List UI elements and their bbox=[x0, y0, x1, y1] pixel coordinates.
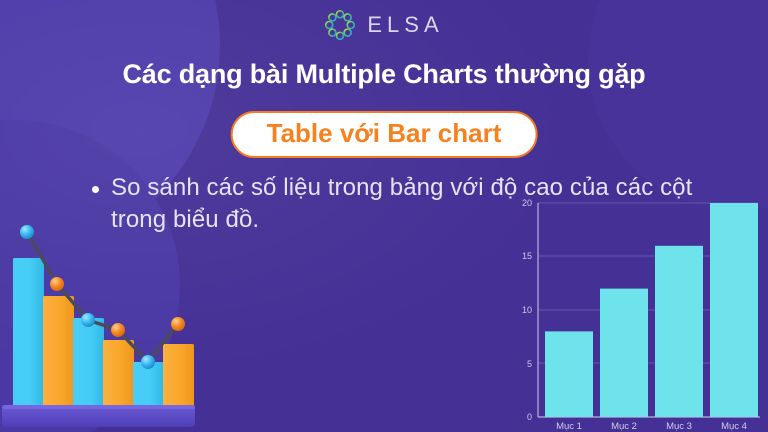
x-tick-0: Mục 1 bbox=[556, 421, 582, 432]
topic-pill: Table với Bar chart bbox=[231, 111, 538, 158]
x-tick-2: Mục 3 bbox=[666, 421, 692, 432]
elsa-wordmark: ELSA bbox=[365, 14, 443, 36]
page-title: Các dạng bài Multiple Charts thường gặp bbox=[0, 60, 768, 90]
y-tick-0: 0 bbox=[527, 412, 532, 422]
slide-root: ELSA Các dạng bài Multiple Charts thường… bbox=[0, 0, 768, 432]
illustration-bars bbox=[13, 258, 194, 406]
chart-bar-0 bbox=[545, 331, 593, 417]
chart-y-tick-labels: 20 15 10 5 0 bbox=[522, 198, 532, 422]
x-tick-3: Mục 4 bbox=[721, 421, 747, 432]
elsa-flower-logo-icon bbox=[324, 9, 356, 41]
chart-bar-2 bbox=[655, 246, 703, 417]
x-tick-1: Mục 2 bbox=[611, 421, 637, 432]
y-tick-20: 20 bbox=[522, 198, 532, 208]
chart-x-tick-labels: Mục 1 Mục 2 Mục 3 Mục 4 bbox=[556, 421, 747, 432]
bar-line-illustration bbox=[0, 196, 210, 432]
illustration-base bbox=[2, 405, 195, 427]
brand-header: ELSA bbox=[0, 6, 768, 44]
y-tick-10: 10 bbox=[522, 305, 532, 315]
y-tick-5: 5 bbox=[527, 359, 532, 369]
bar-chart: 20 15 10 5 0 Mục 1 Mục 2 Mục 3 Mục 4 bbox=[508, 190, 762, 432]
chart-bar-1 bbox=[600, 289, 648, 417]
y-tick-15: 15 bbox=[522, 251, 532, 261]
chart-bar-3 bbox=[710, 203, 758, 417]
bullet-marker-icon bbox=[92, 186, 99, 193]
